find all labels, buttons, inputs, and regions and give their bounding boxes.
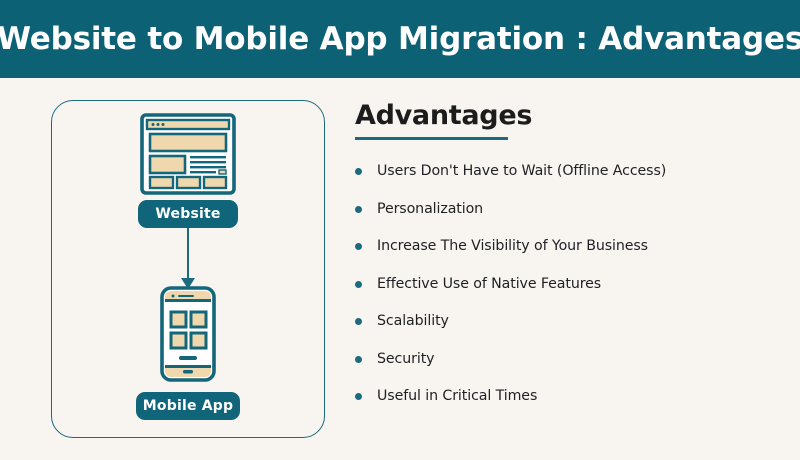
mobile-app-label-pill[interactable]: Mobile App <box>136 392 240 420</box>
bullet-icon <box>355 168 362 175</box>
smartphone-icon <box>160 286 216 387</box>
bullet-icon <box>355 206 362 213</box>
list-item: Users Don't Have to Wait (Offline Access… <box>355 162 785 181</box>
bullet-icon <box>355 281 362 288</box>
down-arrow <box>180 228 196 292</box>
list-item-label: Security <box>377 350 434 369</box>
advantages-list: Users Don't Have to Wait (Offline Access… <box>355 162 785 406</box>
header-bar: Website to Mobile App Migration : Advant… <box>0 0 800 78</box>
list-item: Scalability <box>355 312 785 331</box>
advantages-section: Advantages Users Don't Have to Wait (Off… <box>355 100 785 425</box>
heading-underline <box>355 137 508 140</box>
list-item-label: Effective Use of Native Features <box>377 275 601 294</box>
advantages-heading: Advantages <box>355 100 785 132</box>
bullet-icon <box>355 243 362 250</box>
list-item: Increase The Visibility of Your Business <box>355 237 785 256</box>
website-label-text: Website <box>155 206 220 222</box>
list-item-label: Scalability <box>377 312 449 331</box>
mobile-app-label-text: Mobile App <box>143 398 233 414</box>
list-item-label: Useful in Critical Times <box>377 387 537 406</box>
infographic-page: Website to Mobile App Migration : Advant… <box>0 0 800 460</box>
list-item: Useful in Critical Times <box>355 387 785 406</box>
arrow-line <box>187 228 189 282</box>
website-label-pill[interactable]: Website <box>138 200 238 228</box>
bullet-icon <box>355 318 362 325</box>
browser-window-icon <box>140 113 236 200</box>
list-item: Security <box>355 350 785 369</box>
list-item-label: Users Don't Have to Wait (Offline Access… <box>377 162 666 181</box>
migration-diagram-panel: Website <box>51 100 325 438</box>
bullet-icon <box>355 393 362 400</box>
page-title: Website to Mobile App Migration : Advant… <box>0 21 800 57</box>
list-item: Effective Use of Native Features <box>355 275 785 294</box>
bullet-icon <box>355 356 362 363</box>
list-item-label: Personalization <box>377 200 483 219</box>
list-item-label: Increase The Visibility of Your Business <box>377 237 648 256</box>
list-item: Personalization <box>355 200 785 219</box>
